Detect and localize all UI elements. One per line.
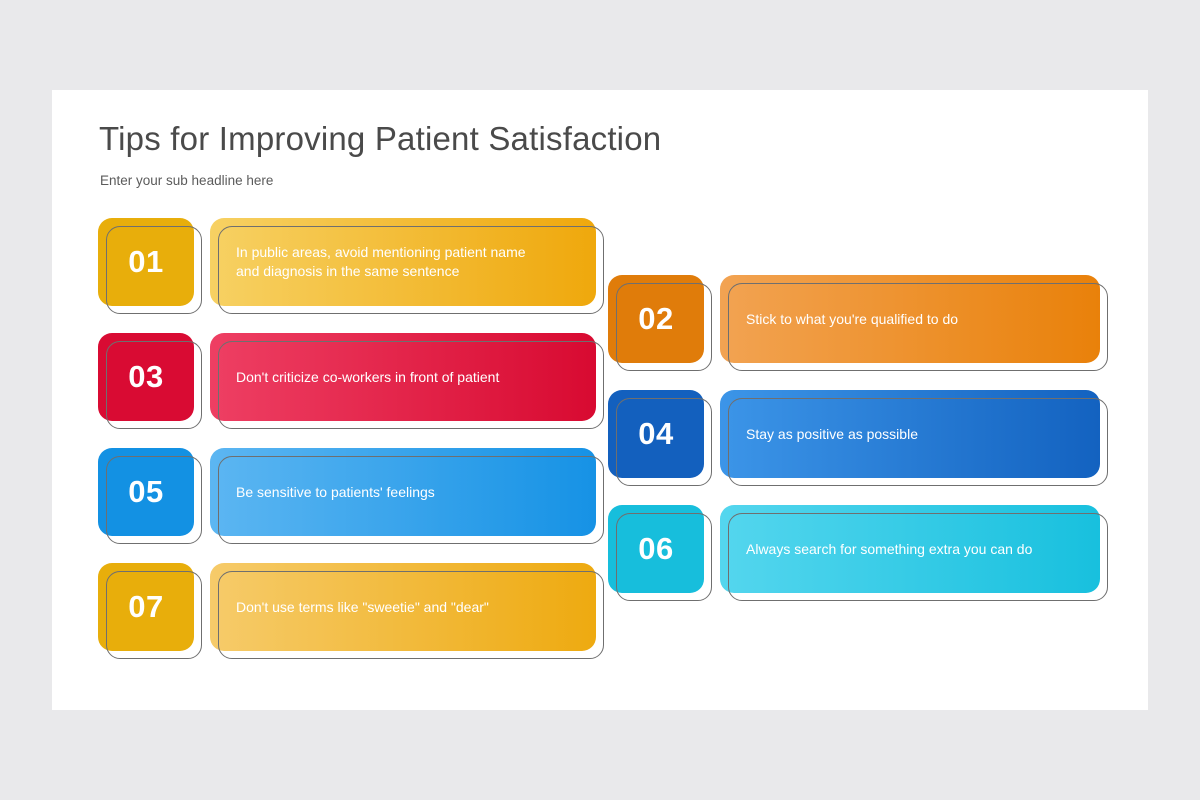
tip-number-label: 07 [98,563,194,651]
tip-card[interactable]: 02Stick to what you're qualified to do [608,275,1108,371]
tip-text-panel[interactable]: Always search for something extra you ca… [720,505,1108,601]
tip-card[interactable]: 03Don't criticize co-workers in front of… [98,333,604,429]
tip-number-label: 02 [608,275,704,363]
tip-number-badge[interactable]: 01 [98,218,202,314]
tip-text-label: Always search for something extra you ca… [746,505,1078,593]
page-subtitle: Enter your sub headline here [100,173,273,188]
tip-card[interactable]: 04Stay as positive as possible [608,390,1108,486]
tip-card[interactable]: 07Don't use terms like "sweetie" and "de… [98,563,604,659]
slide-canvas: Tips for Improving Patient Satisfaction … [52,90,1148,710]
tip-card[interactable]: 06Always search for something extra you … [608,505,1108,601]
tip-number-badge[interactable]: 05 [98,448,202,544]
tip-number-label: 06 [608,505,704,593]
tip-number-label: 05 [98,448,194,536]
tip-number-label: 03 [98,333,194,421]
tip-text-label: Stay as positive as possible [746,390,1078,478]
tip-text-panel[interactable]: Stick to what you're qualified to do [720,275,1108,371]
tip-number-label: 04 [608,390,704,478]
tip-text-panel[interactable]: Don't use terms like "sweetie" and "dear… [210,563,604,659]
tip-card[interactable]: 05Be sensitive to patients' feelings [98,448,604,544]
tip-text-panel[interactable]: In public areas, avoid mentioning patien… [210,218,604,314]
tip-text-label: Be sensitive to patients' feelings [236,448,574,536]
tip-text-label: In public areas, avoid mentioning patien… [236,218,574,306]
tip-number-badge[interactable]: 06 [608,505,712,601]
tip-number-label: 01 [98,218,194,306]
tip-text-label: Stick to what you're qualified to do [746,275,1078,363]
tip-text-panel[interactable]: Don't criticize co-workers in front of p… [210,333,604,429]
tip-text-panel[interactable]: Be sensitive to patients' feelings [210,448,604,544]
tip-card[interactable]: 01In public areas, avoid mentioning pati… [98,218,604,314]
tip-number-badge[interactable]: 04 [608,390,712,486]
tip-number-badge[interactable]: 02 [608,275,712,371]
tip-number-badge[interactable]: 07 [98,563,202,659]
tip-number-badge[interactable]: 03 [98,333,202,429]
tip-text-label: Don't use terms like "sweetie" and "dear… [236,563,574,651]
page-title: Tips for Improving Patient Satisfaction [99,120,661,158]
tip-text-panel[interactable]: Stay as positive as possible [720,390,1108,486]
tip-text-label: Don't criticize co-workers in front of p… [236,333,574,421]
